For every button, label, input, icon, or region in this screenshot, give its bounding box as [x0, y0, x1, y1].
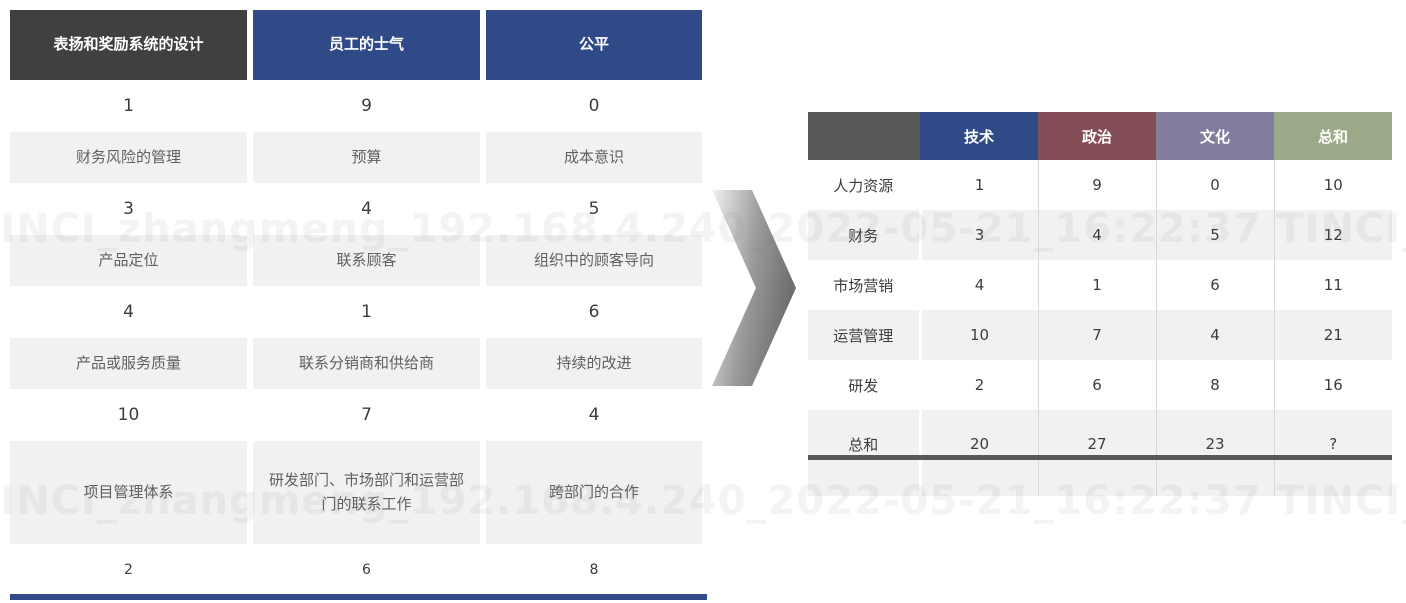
left-table-label-cell: 组织中的顾客导向: [486, 235, 702, 286]
left-table-footer-row: 268: [10, 544, 702, 596]
summary-value-cell: 5: [1156, 210, 1274, 260]
left-table-label-cell: 联系顾客: [253, 235, 480, 286]
table-row: 财务34512: [808, 210, 1392, 260]
right-table-bottom-bar: [808, 455, 1392, 460]
summary-row-label: 总和: [808, 410, 920, 496]
summary-value-cell: 3: [920, 210, 1038, 260]
summary-value-cell: 4: [1156, 310, 1274, 360]
left-table-header-cell: 公平: [486, 10, 702, 80]
summary-value-cell: 12: [1274, 210, 1392, 260]
summary-value-cell: 23: [1156, 410, 1274, 496]
left-table-score-cell: 7: [253, 389, 480, 441]
left-table-label-row: 产品定位联系顾客组织中的顾客导向: [10, 235, 702, 286]
summary-value-cell: 4: [920, 260, 1038, 310]
left-table-header-row: 表扬和奖励系统的设计员工的士气公平: [10, 10, 702, 80]
table-row: 市场营销41611: [808, 260, 1392, 310]
summary-value-cell: 0: [1156, 160, 1274, 210]
table-row: 研发26816: [808, 360, 1392, 410]
table-row: 运营管理107421: [808, 310, 1392, 360]
table-row: 人力资源19010: [808, 160, 1392, 210]
summary-value-cell: 2: [920, 360, 1038, 410]
left-table-score-cell: 9: [253, 80, 480, 132]
chevron-right-arrow-icon: [712, 190, 796, 386]
left-table-score-cell: 5: [486, 183, 702, 235]
left-table-header-cell: 表扬和奖励系统的设计: [10, 10, 247, 80]
summary-row-label: 运营管理: [808, 310, 920, 360]
left-table-label-cell: 预算: [253, 132, 480, 183]
left-table-label-cell: 持续的改进: [486, 338, 702, 389]
left-matrix-table: 表扬和奖励系统的设计员工的士气公平190财务风险的管理预算成本意识345产品定位…: [10, 10, 702, 600]
left-table-score-cell: 3: [10, 183, 247, 235]
left-table-label-cell: 成本意识: [486, 132, 702, 183]
left-table-score-cell: 4: [253, 183, 480, 235]
summary-value-cell: 11: [1274, 260, 1392, 310]
summary-value-cell: 8: [1156, 360, 1274, 410]
left-table-label-cell: 联系分销商和供给商: [253, 338, 480, 389]
left-table-footer-cell: 2: [10, 544, 247, 596]
left-table-header-cell: 员工的士气: [253, 10, 480, 80]
summary-header-culture: 文化: [1156, 112, 1274, 160]
left-table-label-cell: 产品定位: [10, 235, 247, 286]
summary-value-cell: 21: [1274, 310, 1392, 360]
left-table-footer-cell: 6: [253, 544, 480, 596]
left-table-label-cell: 项目管理体系: [10, 441, 247, 544]
summary-table: 技术 政治 文化 总和 人力资源19010财务34512市场营销41611运营管…: [808, 112, 1392, 496]
summary-value-cell: 27: [1038, 410, 1156, 496]
summary-value-cell: 20: [920, 410, 1038, 496]
left-table-label-row: 财务风险的管理预算成本意识: [10, 132, 702, 183]
summary-value-cell: ?: [1274, 410, 1392, 496]
left-table-score-cell: 6: [486, 286, 702, 338]
summary-table-head: 技术 政治 文化 总和: [808, 112, 1392, 160]
left-table-number-row: 1074: [10, 389, 702, 441]
left-table-number-row: 345: [10, 183, 702, 235]
summary-row-label: 财务: [808, 210, 920, 260]
summary-header-total: 总和: [1274, 112, 1392, 160]
summary-row-label: 研发: [808, 360, 920, 410]
left-table-label-cell: 财务风险的管理: [10, 132, 247, 183]
summary-value-cell: 7: [1038, 310, 1156, 360]
right-summary-table: 技术 政治 文化 总和 人力资源19010财务34512市场营销41611运营管…: [808, 112, 1392, 496]
summary-value-cell: 4: [1038, 210, 1156, 260]
summary-row-label: 市场营销: [808, 260, 920, 310]
left-table-score-cell: 0: [486, 80, 702, 132]
left-table-score-cell: 1: [10, 80, 247, 132]
summary-value-cell: 6: [1156, 260, 1274, 310]
left-table-label-cell: 跨部门的合作: [486, 441, 702, 544]
summary-value-cell: 6: [1038, 360, 1156, 410]
summary-value-cell: 1: [1038, 260, 1156, 310]
left-table-score-cell: 4: [486, 389, 702, 441]
left-table-label-cell: 研发部门、市场部门和运营部门的联系工作: [253, 441, 480, 544]
left-table-score-cell: 4: [10, 286, 247, 338]
summary-header-politics: 政治: [1038, 112, 1156, 160]
summary-value-cell: 10: [1274, 160, 1392, 210]
summary-table-body: 人力资源19010财务34512市场营销41611运营管理107421研发268…: [808, 160, 1392, 496]
summary-value-cell: 16: [1274, 360, 1392, 410]
left-table-footer-cell: 8: [486, 544, 702, 596]
summary-value-cell: 9: [1038, 160, 1156, 210]
left-table-bottom-bar: [10, 594, 707, 600]
left-table-label-row: 产品或服务质量联系分销商和供给商持续的改进: [10, 338, 702, 389]
left-table-score-cell: 1: [253, 286, 480, 338]
summary-value-cell: 10: [920, 310, 1038, 360]
summary-header-corner: [808, 112, 920, 160]
table-row: 总和202723?: [808, 410, 1392, 496]
summary-header-row: 技术 政治 文化 总和: [808, 112, 1392, 160]
summary-value-cell: 1: [920, 160, 1038, 210]
left-table-number-row: 190: [10, 80, 702, 132]
left-table-score-cell: 10: [10, 389, 247, 441]
summary-row-label: 人力资源: [808, 160, 920, 210]
left-table-label-row: 项目管理体系研发部门、市场部门和运营部门的联系工作跨部门的合作: [10, 441, 702, 544]
summary-header-tech: 技术: [920, 112, 1038, 160]
left-table-number-row: 416: [10, 286, 702, 338]
left-table-label-cell: 产品或服务质量: [10, 338, 247, 389]
